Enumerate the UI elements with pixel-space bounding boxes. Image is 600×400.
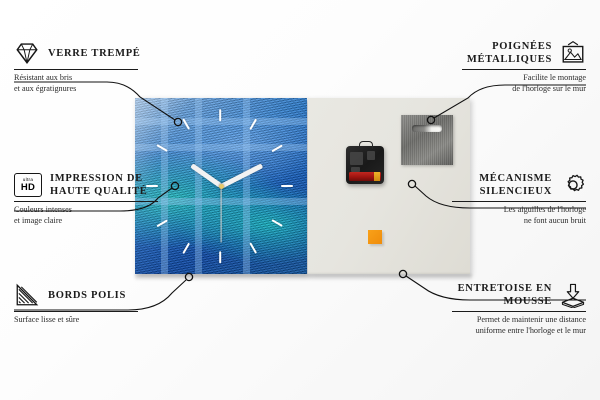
feature-poignees-metalliques: POIGNÉES MÉTALLIQUES Facilite le montage…	[456, 40, 586, 94]
mechanism-detail	[367, 151, 375, 160]
clock-tick	[249, 242, 257, 254]
feature-rule	[14, 311, 138, 312]
hd-badge-large-label: HD	[21, 183, 35, 193]
feature-title: POIGNÉES MÉTALLIQUES	[456, 40, 552, 66]
feature-desc: Les aiguilles de l'horloge ne font aucun…	[446, 205, 586, 226]
picture-frame-hanger-icon	[560, 40, 586, 66]
feature-title: MÉCANISME SILENCIEUX	[446, 172, 552, 198]
feature-rule	[462, 69, 586, 70]
hanger-plate	[401, 115, 453, 165]
diamond-icon	[14, 40, 40, 66]
clock-center-hub	[219, 184, 224, 189]
mechanism-hook	[359, 141, 373, 149]
mechanism-detail	[350, 152, 363, 165]
clock-tick	[219, 251, 221, 263]
feature-desc: Résistant aux bris et aux égratignures	[14, 73, 144, 94]
clock-tick	[219, 109, 221, 121]
feature-rule	[452, 311, 586, 312]
feature-title: VERRE TREMPÉ	[48, 47, 141, 60]
hanger-keyhole-slot	[412, 125, 442, 132]
ultra-hd-badge-icon: ultra HD	[14, 173, 42, 197]
feature-rule	[14, 201, 158, 202]
infographic-page: VERRE TREMPÉ Résistant aux bris et aux é…	[0, 0, 600, 400]
feature-rule	[452, 201, 586, 202]
feature-rule	[14, 69, 138, 70]
feature-title: ENTRETOISE EN MOUSSE	[446, 282, 552, 308]
product-photo	[135, 98, 470, 278]
feature-bords-polis: BORDS POLIS Surface lisse et sûre	[14, 282, 144, 326]
feature-mecanisme-silencieux: MÉCANISME SILENCIEUX Les aiguilles de l'…	[446, 172, 586, 226]
gear-icon	[560, 172, 586, 198]
clock-second-hand	[220, 187, 221, 243]
feature-desc: Surface lisse et sûre	[14, 315, 144, 326]
arrow-into-foam-icon	[560, 282, 586, 308]
feature-title: IMPRESSION DE HAUTE QUALITÉ	[50, 172, 164, 198]
clock-minute-hand	[220, 163, 263, 188]
feature-verre-trempe: VERRE TREMPÉ Résistant aux bris et aux é…	[14, 40, 144, 94]
foam-spacer	[368, 230, 382, 244]
battery	[349, 172, 381, 181]
polished-edge-icon	[14, 282, 40, 308]
product-shadow	[135, 274, 472, 281]
clock-mechanism	[346, 146, 384, 184]
feature-desc: Permet de maintenir une distance uniform…	[446, 315, 586, 336]
feature-entretoise-en-mousse: ENTRETOISE EN MOUSSE Permet de maintenir…	[446, 282, 586, 336]
feature-title: BORDS POLIS	[48, 289, 126, 302]
feature-desc: Facilite le montage de l'horloge sur le …	[456, 73, 586, 94]
clock-tick	[281, 185, 293, 187]
clock-tick	[271, 219, 283, 227]
feature-impression-haute-qualite: ultra HD IMPRESSION DE HAUTE QUALITÉ Cou…	[14, 172, 164, 226]
clock-tick	[182, 242, 190, 254]
feature-desc: Couleurs intenses et image claire	[14, 205, 164, 226]
